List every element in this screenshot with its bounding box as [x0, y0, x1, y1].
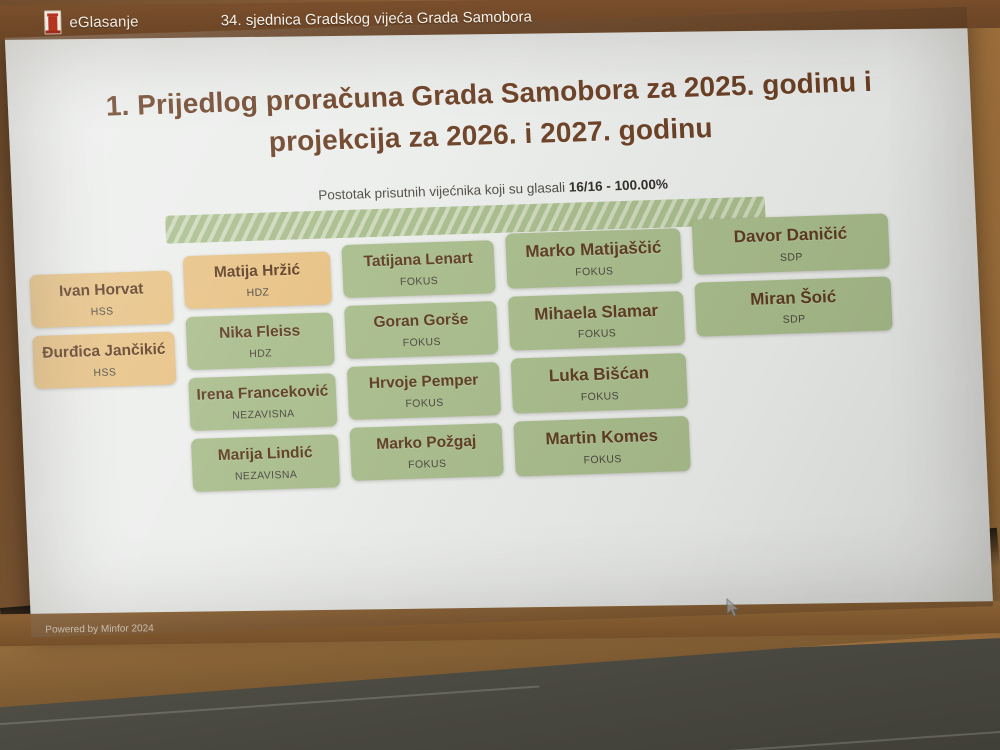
voter-party: SDP — [699, 248, 883, 266]
voter-column-4: Marko MatijaščićFOKUSMihaela SlamarFOKUS… — [505, 228, 691, 476]
app-brand[interactable]: eGlasanje — [44, 9, 139, 34]
voter-card-grid: Ivan HorvatHSSĐurđica JančikićHSSMatija … — [29, 225, 979, 497]
voter-name: Hrvoje Pemper — [353, 371, 494, 394]
voter-card[interactable]: Nika FleissHDZ — [185, 312, 334, 370]
voter-card[interactable]: Tatijana LenartFOKUS — [341, 240, 495, 298]
app-brand-label: eGlasanje — [69, 13, 139, 31]
voter-party: FOKUS — [354, 395, 494, 412]
voter-name: Marko Požgaj — [356, 432, 497, 455]
voter-name: Tatijana Lenart — [348, 249, 489, 272]
voter-card[interactable]: Hrvoje PemperFOKUS — [347, 362, 501, 420]
footer-label: Powered by Minfor 2024 — [45, 623, 154, 635]
turnout-label: Postotak prisutnih vijećnika koji su gla… — [318, 180, 569, 203]
agenda-item-title: 1. Prijedlog proračuna Grada Samobora za… — [7, 59, 972, 171]
voter-card[interactable]: Luka BišćanFOKUS — [511, 353, 688, 413]
voter-column-2: Matija HržićHDZNika FleissHDZIrena Franc… — [183, 251, 340, 491]
voter-card[interactable]: Martin KomesFOKUS — [513, 416, 690, 476]
voter-card[interactable]: Davor DaničićSDP — [692, 213, 890, 274]
voter-name: Marko Matijaščić — [511, 237, 675, 263]
voter-name: Nika Fleiss — [192, 321, 328, 344]
voter-card[interactable]: Đurđica JančikićHSS — [32, 331, 176, 388]
voter-party: HSS — [37, 304, 167, 320]
voter-card[interactable]: Miran ŠoićSDP — [694, 276, 892, 337]
voter-party: FOKUS — [521, 451, 684, 468]
projection-photo: eGlasanje 34. sjednica Gradskog vijeća G… — [0, 0, 1000, 750]
voter-party: NEZAVISNA — [196, 406, 331, 422]
voter-party: NEZAVISNA — [198, 467, 333, 483]
slide-surface: eGlasanje 34. sjednica Gradskog vijeća G… — [5, 7, 993, 637]
voter-name: Davor Daničić — [698, 223, 883, 250]
voter-party: FOKUS — [518, 388, 681, 405]
voter-column-3: Tatijana LenartFOKUSGoran GoršeFOKUSHrvo… — [341, 240, 503, 480]
voter-card[interactable]: Marko PožgajFOKUS — [350, 423, 504, 481]
voter-card[interactable]: Matija HržićHDZ — [183, 251, 332, 309]
voter-name: Marija Lindić — [197, 443, 333, 466]
voter-name: Đurđica Jančikić — [39, 341, 170, 364]
voter-party: FOKUS — [515, 326, 678, 343]
voter-party: FOKUS — [349, 273, 489, 290]
voter-name: Goran Gorše — [351, 310, 492, 333]
voter-column-5: Davor DaničićSDPMiran ŠoićSDP — [692, 213, 893, 337]
voter-card[interactable]: Irena FrancekovićNEZAVISNA — [188, 373, 337, 431]
voter-card[interactable]: Marko MatijaščićFOKUS — [505, 228, 682, 288]
voter-name: Irena Franceković — [195, 382, 331, 405]
voter-party: FOKUS — [357, 456, 497, 473]
voter-name: Miran Šoić — [701, 285, 886, 312]
voter-name: Luka Bišćan — [517, 363, 681, 389]
voter-name: Matija Hržić — [189, 261, 325, 284]
voter-party: FOKUS — [513, 263, 676, 280]
session-title: 34. sjednica Gradskog vijeća Grada Samob… — [221, 8, 533, 29]
voter-card[interactable]: Ivan HorvatHSS — [29, 271, 173, 328]
voter-card[interactable]: Marija LindićNEZAVISNA — [191, 434, 340, 492]
voter-party: HDZ — [190, 285, 325, 301]
voter-party: SDP — [702, 311, 886, 329]
voter-party: HSS — [40, 364, 170, 380]
voter-column-1: Ivan HorvatHSSĐurđica JančikićHSS — [29, 271, 176, 389]
voter-name: Mihaela Slamar — [514, 300, 678, 326]
slide-content: 1. Prijedlog proračuna Grada Samobora za… — [5, 7, 993, 637]
samobor-coat-of-arms-icon — [44, 10, 62, 34]
turnout-value: 16/16 - 100.00% — [569, 176, 669, 194]
voter-name: Ivan Horvat — [36, 280, 167, 303]
projection-screen: eGlasanje 34. sjednica Gradskog vijeća G… — [5, 7, 993, 637]
voter-card[interactable]: Mihaela SlamarFOKUS — [508, 291, 685, 351]
voter-card[interactable]: Goran GoršeFOKUS — [344, 301, 498, 359]
mouse-cursor-icon — [726, 598, 742, 620]
voter-party: FOKUS — [352, 334, 492, 351]
voter-party: HDZ — [193, 345, 328, 361]
voter-name: Martin Komes — [520, 425, 684, 451]
